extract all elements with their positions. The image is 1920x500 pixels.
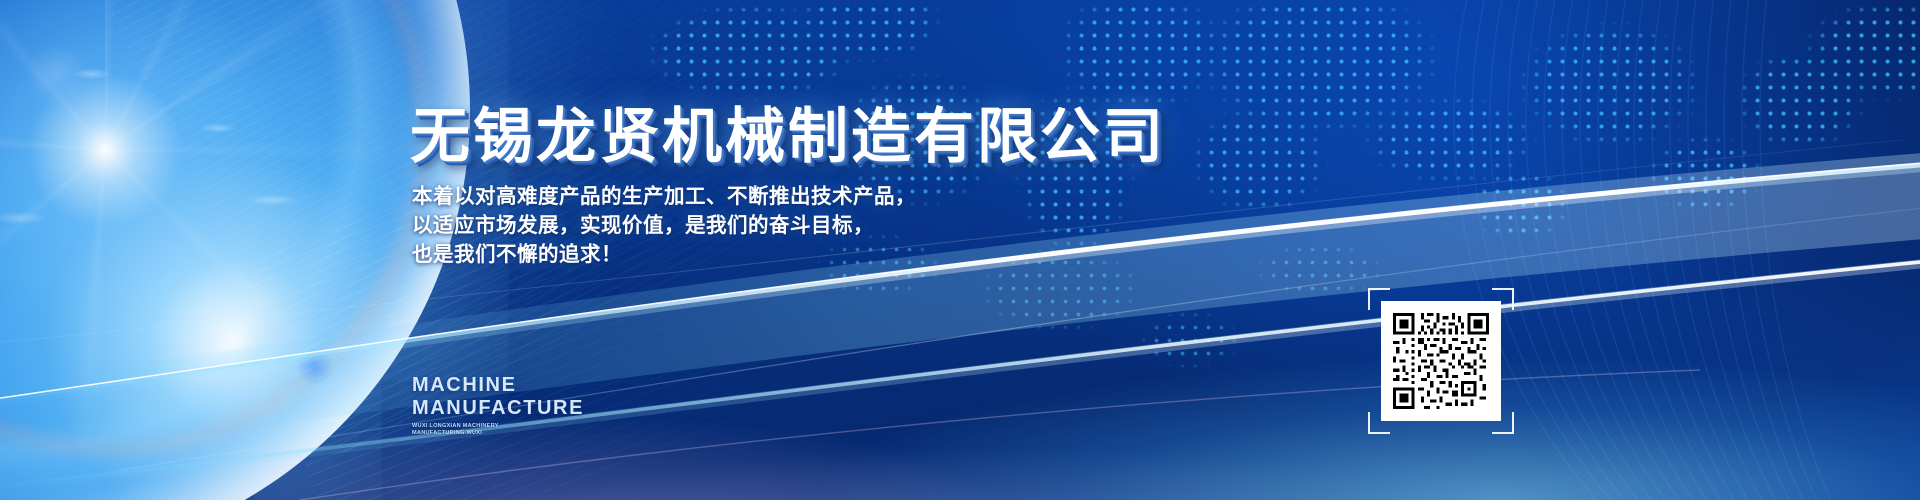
tagline-line-3: 也是我们不懈的追求！ — [412, 240, 916, 269]
qr-code-icon — [1390, 310, 1492, 412]
banner-content: 无锡龙贤机械制造有限公司 本着以对高难度产品的生产加工、不断推出技术产品， 以适… — [0, 0, 1920, 500]
brand-mark-line-2: MANUFACTURE — [412, 397, 584, 420]
company-title: 无锡龙贤机械制造有限公司 — [410, 88, 1166, 175]
company-banner: 无锡龙贤机械制造有限公司 本着以对高难度产品的生产加工、不断推出技术产品， 以适… — [0, 0, 1920, 500]
company-tagline: 本着以对高难度产品的生产加工、不断推出技术产品， 以适应市场发展，实现价值，是我… — [412, 182, 916, 269]
brand-mark-subtitle: WUXI LONGXIAN MACHINERY MANUFACTURING.WU… — [412, 423, 522, 438]
tagline-line-1: 本着以对高难度产品的生产加工、不断推出技术产品， — [412, 182, 916, 211]
brand-mark-line-1: MACHINE — [412, 374, 584, 397]
brand-mark: MACHINE MANUFACTURE WUXI LONGXIAN MACHIN… — [412, 374, 584, 438]
tagline-line-2: 以适应市场发展，实现价值，是我们的奋斗目标， — [412, 211, 916, 240]
qr-code-area[interactable] — [1368, 288, 1514, 434]
qr-code-card[interactable] — [1381, 301, 1501, 421]
